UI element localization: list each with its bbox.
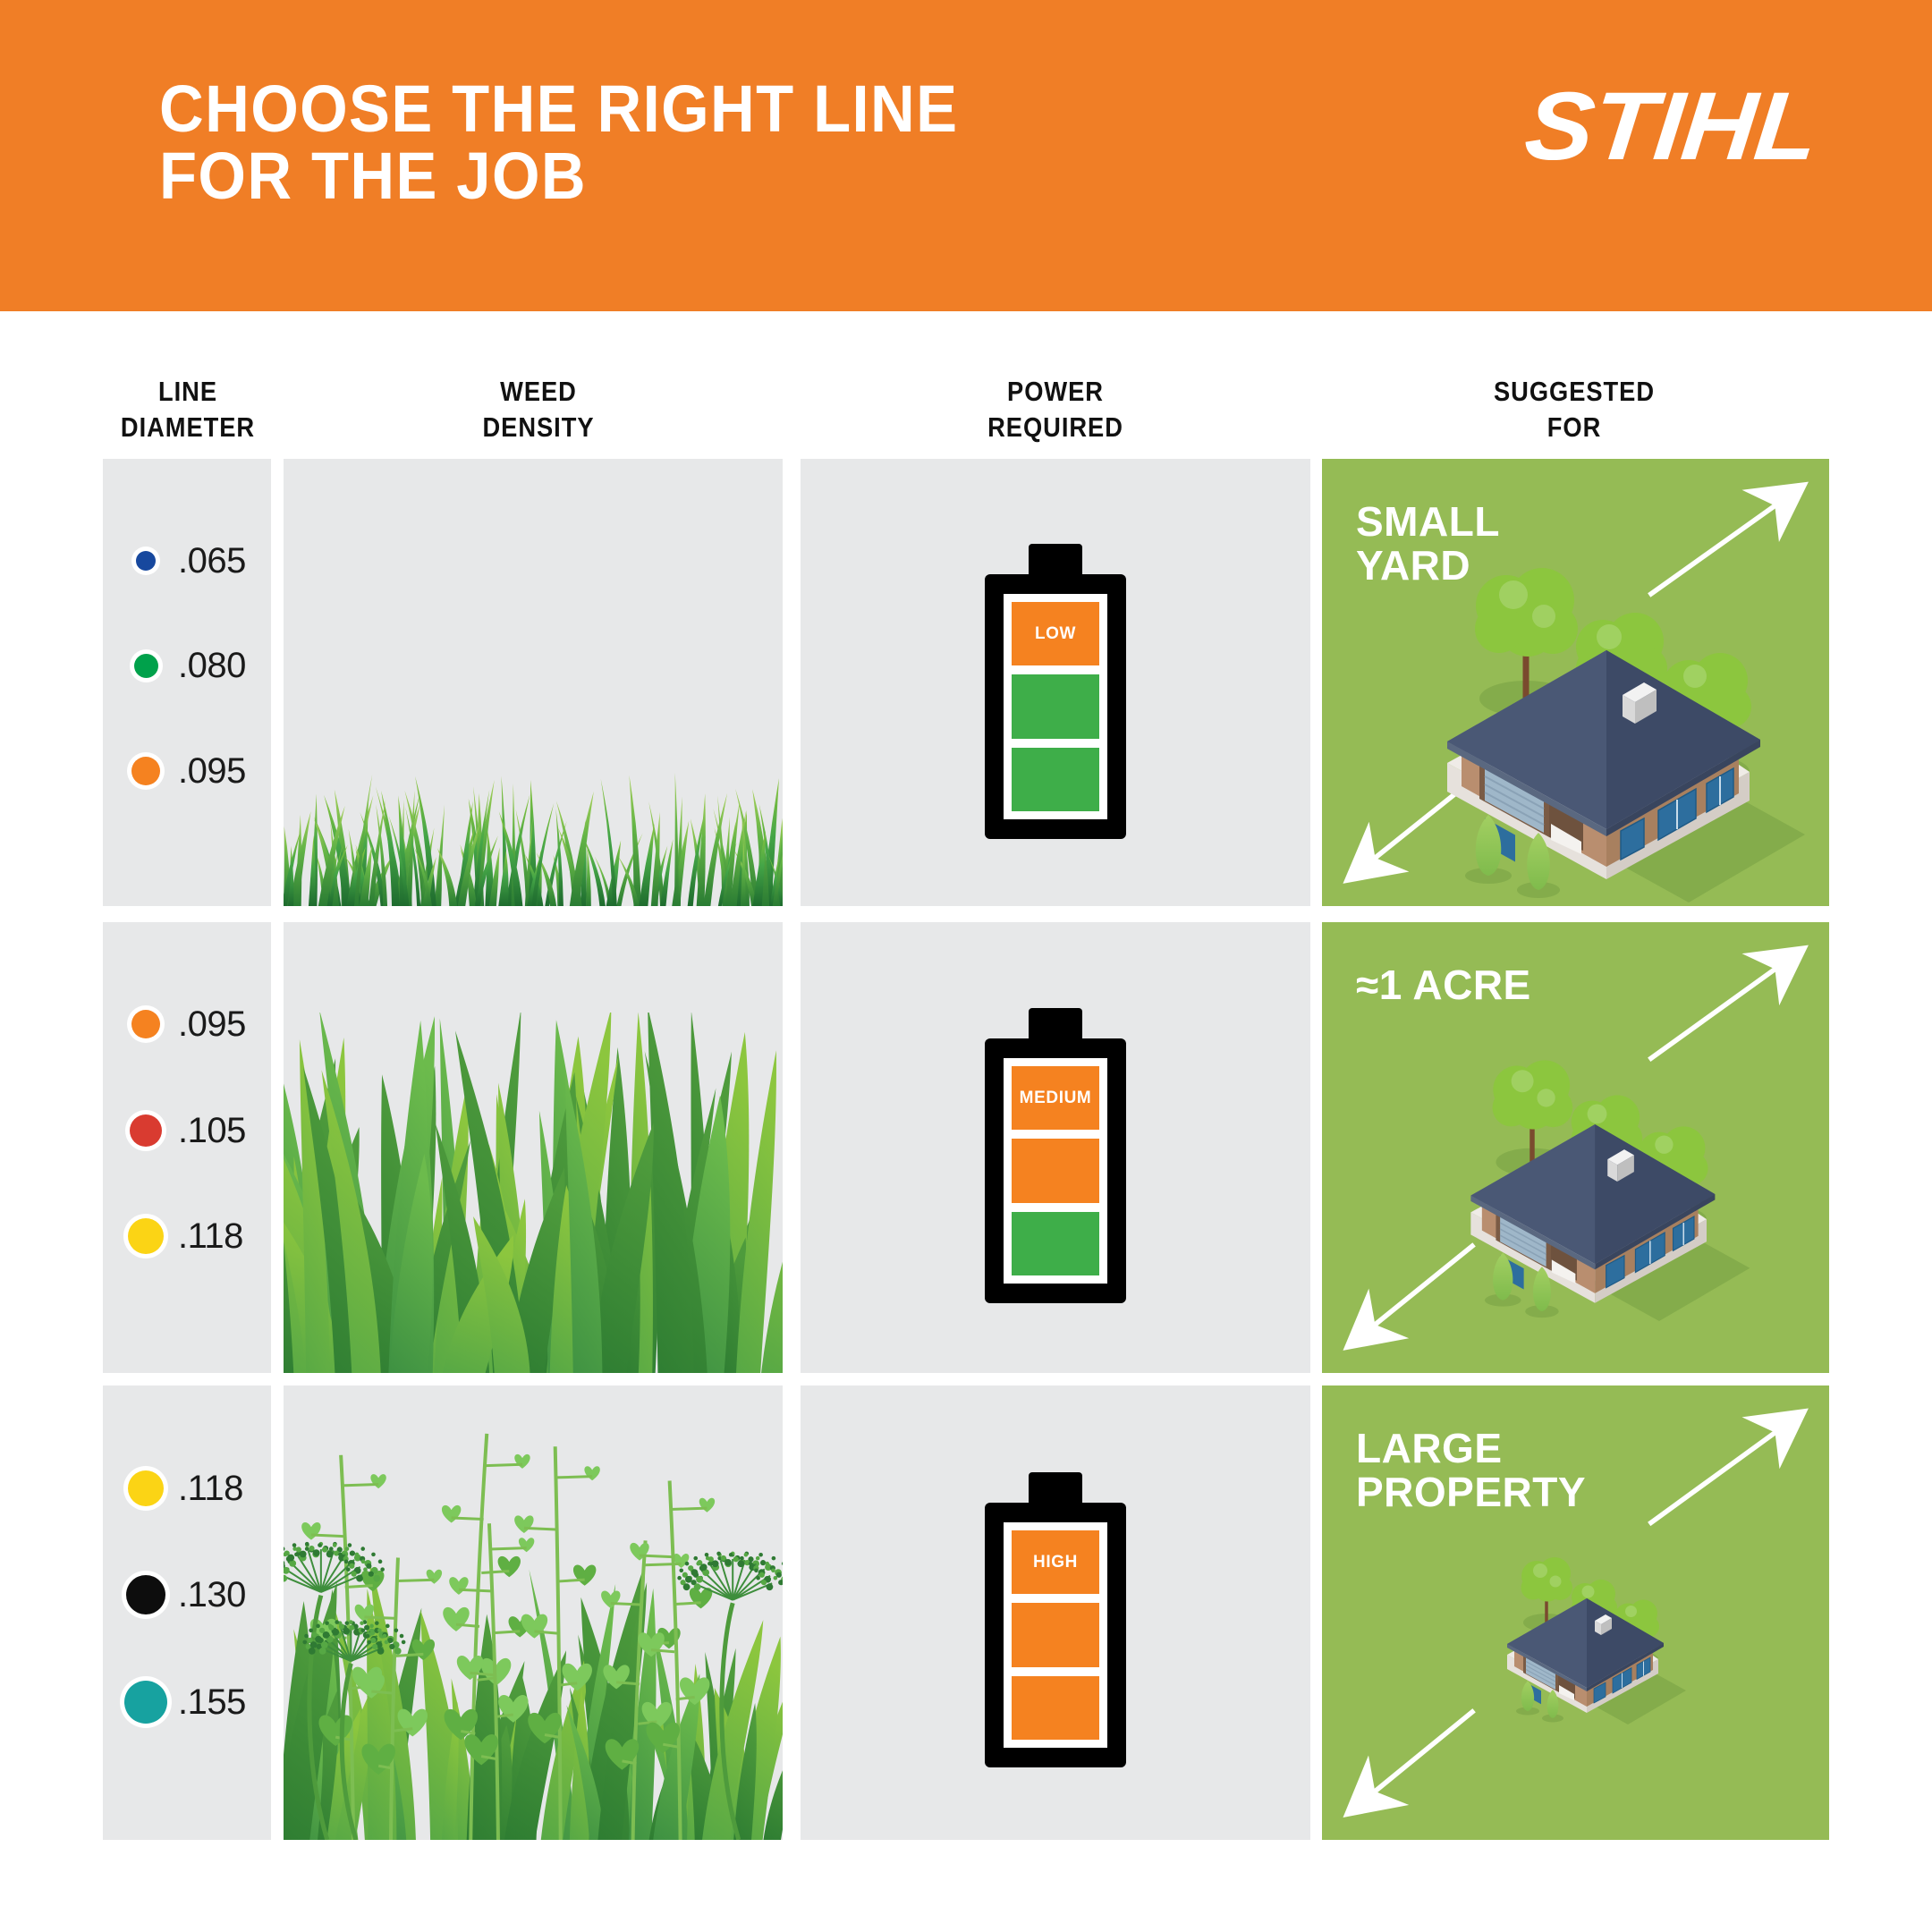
grass-illustration-thick — [284, 1013, 783, 1373]
line-diameter-panel: .065 .080 .095 — [103, 459, 271, 906]
page-header: CHOOSE THE RIGHT LINE FOR THE JOB STIHL — [0, 0, 1932, 311]
grass-illustration-thin — [284, 709, 783, 906]
diameter-value: .095 — [178, 1004, 246, 1045]
battery-icon: MEDIUM — [985, 1008, 1126, 1303]
battery-icon: LOW — [985, 544, 1126, 839]
power-level-label: HIGH — [1033, 1553, 1078, 1572]
suggested-for-panel: LARGE PROPERTY — [1322, 1385, 1829, 1840]
line-diameter-item[interactable]: .105 — [123, 1107, 246, 1154]
diameter-value: .130 — [178, 1575, 246, 1615]
line-diameter-item[interactable]: .095 — [123, 1001, 246, 1047]
battery-segment — [1012, 1676, 1099, 1740]
line-diameter-item[interactable]: .130 — [123, 1572, 246, 1618]
power-level-label: MEDIUM — [1020, 1089, 1092, 1108]
power-required-panel: MEDIUM — [801, 922, 1310, 1373]
line-diameter-panel: .118 .130 .155 — [103, 1385, 271, 1840]
battery-body: HIGH — [985, 1503, 1126, 1767]
line-diameter-panel: .095 .105 .118 — [103, 922, 271, 1373]
battery-segment — [1012, 1212, 1099, 1275]
diameter-dot-icon — [123, 538, 169, 584]
diameter-value: .155 — [178, 1682, 246, 1723]
battery-segment — [1012, 674, 1099, 738]
column-header-suggested-for: SUGGESTED FOR — [1456, 374, 1692, 445]
house-illustration — [1479, 1538, 1694, 1734]
battery-terminal-icon — [1029, 1472, 1082, 1506]
house-illustration — [1428, 1030, 1762, 1336]
property-scene — [1428, 1030, 1689, 1269]
diameter-dot-icon — [123, 1001, 169, 1047]
battery-segment — [1012, 1139, 1099, 1202]
diameter-dot-icon — [123, 1465, 169, 1512]
power-required-panel: HIGH — [801, 1385, 1310, 1840]
line-diameter-item[interactable]: .118 — [123, 1465, 243, 1512]
property-scene — [1479, 1538, 1587, 1636]
suggested-for-panel: ≈1 ACRE — [1322, 922, 1829, 1373]
column-header-weed-density: WEED DENSITY — [420, 374, 657, 445]
column-header-line-diameter: LINE DIAMETER — [70, 374, 306, 445]
power-required-panel: LOW — [801, 459, 1310, 906]
stihl-logo: STIHL — [1520, 70, 1823, 182]
battery-segment: MEDIUM — [1012, 1066, 1099, 1130]
line-diameter-item[interactable]: .080 — [123, 642, 246, 689]
battery-body: LOW — [985, 574, 1126, 839]
diameter-value: .118 — [178, 1469, 243, 1509]
line-diameter-item[interactable]: .118 — [123, 1213, 243, 1259]
suggested-for-panel: SMALL YARD — [1322, 459, 1829, 906]
battery-body: MEDIUM — [985, 1038, 1126, 1303]
column-header-power-required: POWER REQUIRED — [937, 374, 1174, 445]
diameter-dot-icon — [123, 642, 169, 689]
line-diameter-item[interactable]: .095 — [123, 748, 246, 794]
suggested-for-label: SMALL YARD — [1356, 500, 1500, 588]
battery-segment: LOW — [1012, 602, 1099, 665]
battery-segment — [1012, 748, 1099, 811]
battery-segment — [1012, 1603, 1099, 1666]
suggested-for-label: LARGE PROPERTY — [1356, 1427, 1586, 1514]
page-title: CHOOSE THE RIGHT LINE FOR THE JOB — [159, 75, 958, 210]
diameter-value: .065 — [178, 541, 246, 581]
battery-segment: HIGH — [1012, 1530, 1099, 1594]
diameter-value: .118 — [178, 1216, 243, 1257]
battery-icon: HIGH — [985, 1472, 1126, 1767]
weed-density-panel — [284, 922, 783, 1373]
weed-density-panel — [284, 459, 783, 906]
line-diameter-item[interactable]: .155 — [123, 1679, 246, 1725]
diameter-dot-icon — [123, 748, 169, 794]
diameter-value: .095 — [178, 751, 246, 792]
battery-terminal-icon — [1029, 1008, 1082, 1042]
line-diameter-item[interactable]: .065 — [123, 538, 246, 584]
diameter-dot-icon — [123, 1679, 169, 1725]
battery-terminal-icon — [1029, 544, 1082, 578]
diameter-value: .080 — [178, 646, 246, 686]
weed-density-panel — [284, 1385, 783, 1840]
diameter-dot-icon — [123, 1107, 169, 1154]
diameter-value: .105 — [178, 1111, 246, 1151]
diameter-dot-icon — [123, 1572, 169, 1618]
diameter-dot-icon — [123, 1213, 169, 1259]
weeds-illustration — [284, 1412, 783, 1840]
suggested-for-label: ≈1 ACRE — [1356, 963, 1531, 1007]
power-level-label: LOW — [1035, 624, 1076, 644]
